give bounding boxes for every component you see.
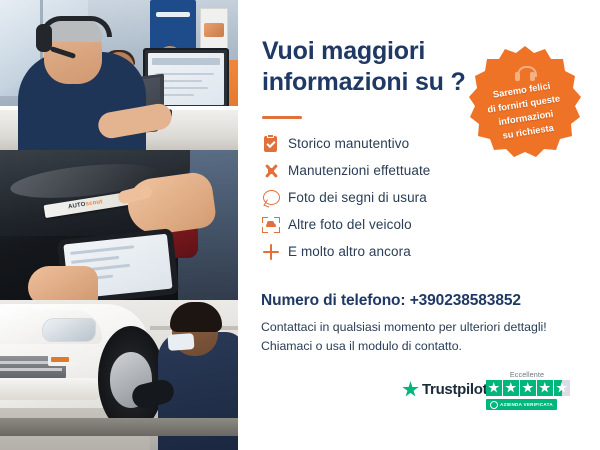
title-divider (262, 116, 302, 119)
verified-badge: AZIENDA VERIFICATA (486, 399, 557, 410)
star-half-icon (554, 380, 570, 396)
tools-cross-icon (260, 161, 286, 181)
list-item-label: Altre foto del veicolo (286, 217, 412, 232)
check-circle-icon (490, 401, 498, 409)
car-frame-icon (260, 215, 286, 235)
call-center-photo (0, 0, 238, 150)
tablet-line-decor (70, 245, 134, 255)
list-item-label: Foto dei segni di usura (286, 190, 427, 205)
page-title: Vuoi maggiori informazioni su ? (262, 36, 472, 97)
star-filled-icon (503, 380, 519, 396)
list-item-label: E molto altro ancora (286, 244, 411, 259)
star-filled-icon (486, 380, 502, 396)
contact-description-line-2: Chiamaci o usa il modulo di contatto. (261, 337, 581, 356)
speech-bubble-icon (260, 188, 286, 208)
star-filled-icon (520, 380, 536, 396)
callout-badge: Saremo felici di fornirti queste informa… (466, 44, 584, 162)
list-item: E molto altro ancora (260, 238, 550, 265)
trustpilot-rating: Eccellente AZIENDA VERIFICATA (486, 370, 580, 414)
wall-banner-decor (150, 0, 196, 50)
strip-logo-decor: AUTOscout (68, 199, 103, 210)
headline-line-2: informazioni su ? (262, 67, 472, 98)
plus-icon (260, 242, 286, 262)
star-rating (486, 380, 580, 396)
star-filled-icon (537, 380, 553, 396)
trustpilot-logo: Trustpilot (402, 381, 487, 398)
tablet-line-decor (71, 256, 119, 264)
list-item: Altre foto del veicolo (260, 211, 550, 238)
hand-holding-tablet-decor (28, 266, 98, 300)
phone-number[interactable]: Numero di telefono: +390238583852 (261, 292, 521, 310)
face-mask-decor (167, 333, 194, 351)
tyre-decor (98, 326, 164, 432)
list-item-label: Storico manutentivo (286, 136, 409, 151)
rating-label: Eccellente (486, 370, 568, 379)
list-item-label: Manutenzioni effettuate (286, 163, 430, 178)
contact-description: Contattaci in qualsiasi momento per ulte… (261, 318, 581, 356)
clipboard-check-icon (260, 134, 286, 154)
screen-line-decor (156, 73, 214, 75)
trustpilot-name: Trustpilot (422, 381, 487, 398)
headset-icon (515, 66, 535, 82)
bumper-decor (0, 378, 100, 400)
trustpilot-star-icon (402, 381, 419, 398)
list-item: Foto dei segni di usura (260, 184, 550, 211)
screen-toolbar-decor (152, 58, 220, 65)
mechanic-photo (0, 300, 238, 450)
car-lift-decor (0, 418, 238, 436)
car-badge-decor (48, 354, 74, 366)
promo-card: AUTOscout (0, 0, 600, 450)
headline-line-1: Vuoi maggiori (262, 36, 472, 67)
contact-description-line-1: Contattaci in qualsiasi momento per ulte… (261, 318, 581, 337)
headlight-decor (42, 318, 96, 342)
verified-label: AZIENDA VERIFICATA (500, 402, 553, 407)
photo-column: AUTOscout (0, 0, 238, 450)
trustpilot-widget[interactable]: Trustpilot Eccellente AZIENDA VERIFICATA (400, 370, 580, 416)
inspection-photo: AUTOscout (0, 150, 238, 300)
